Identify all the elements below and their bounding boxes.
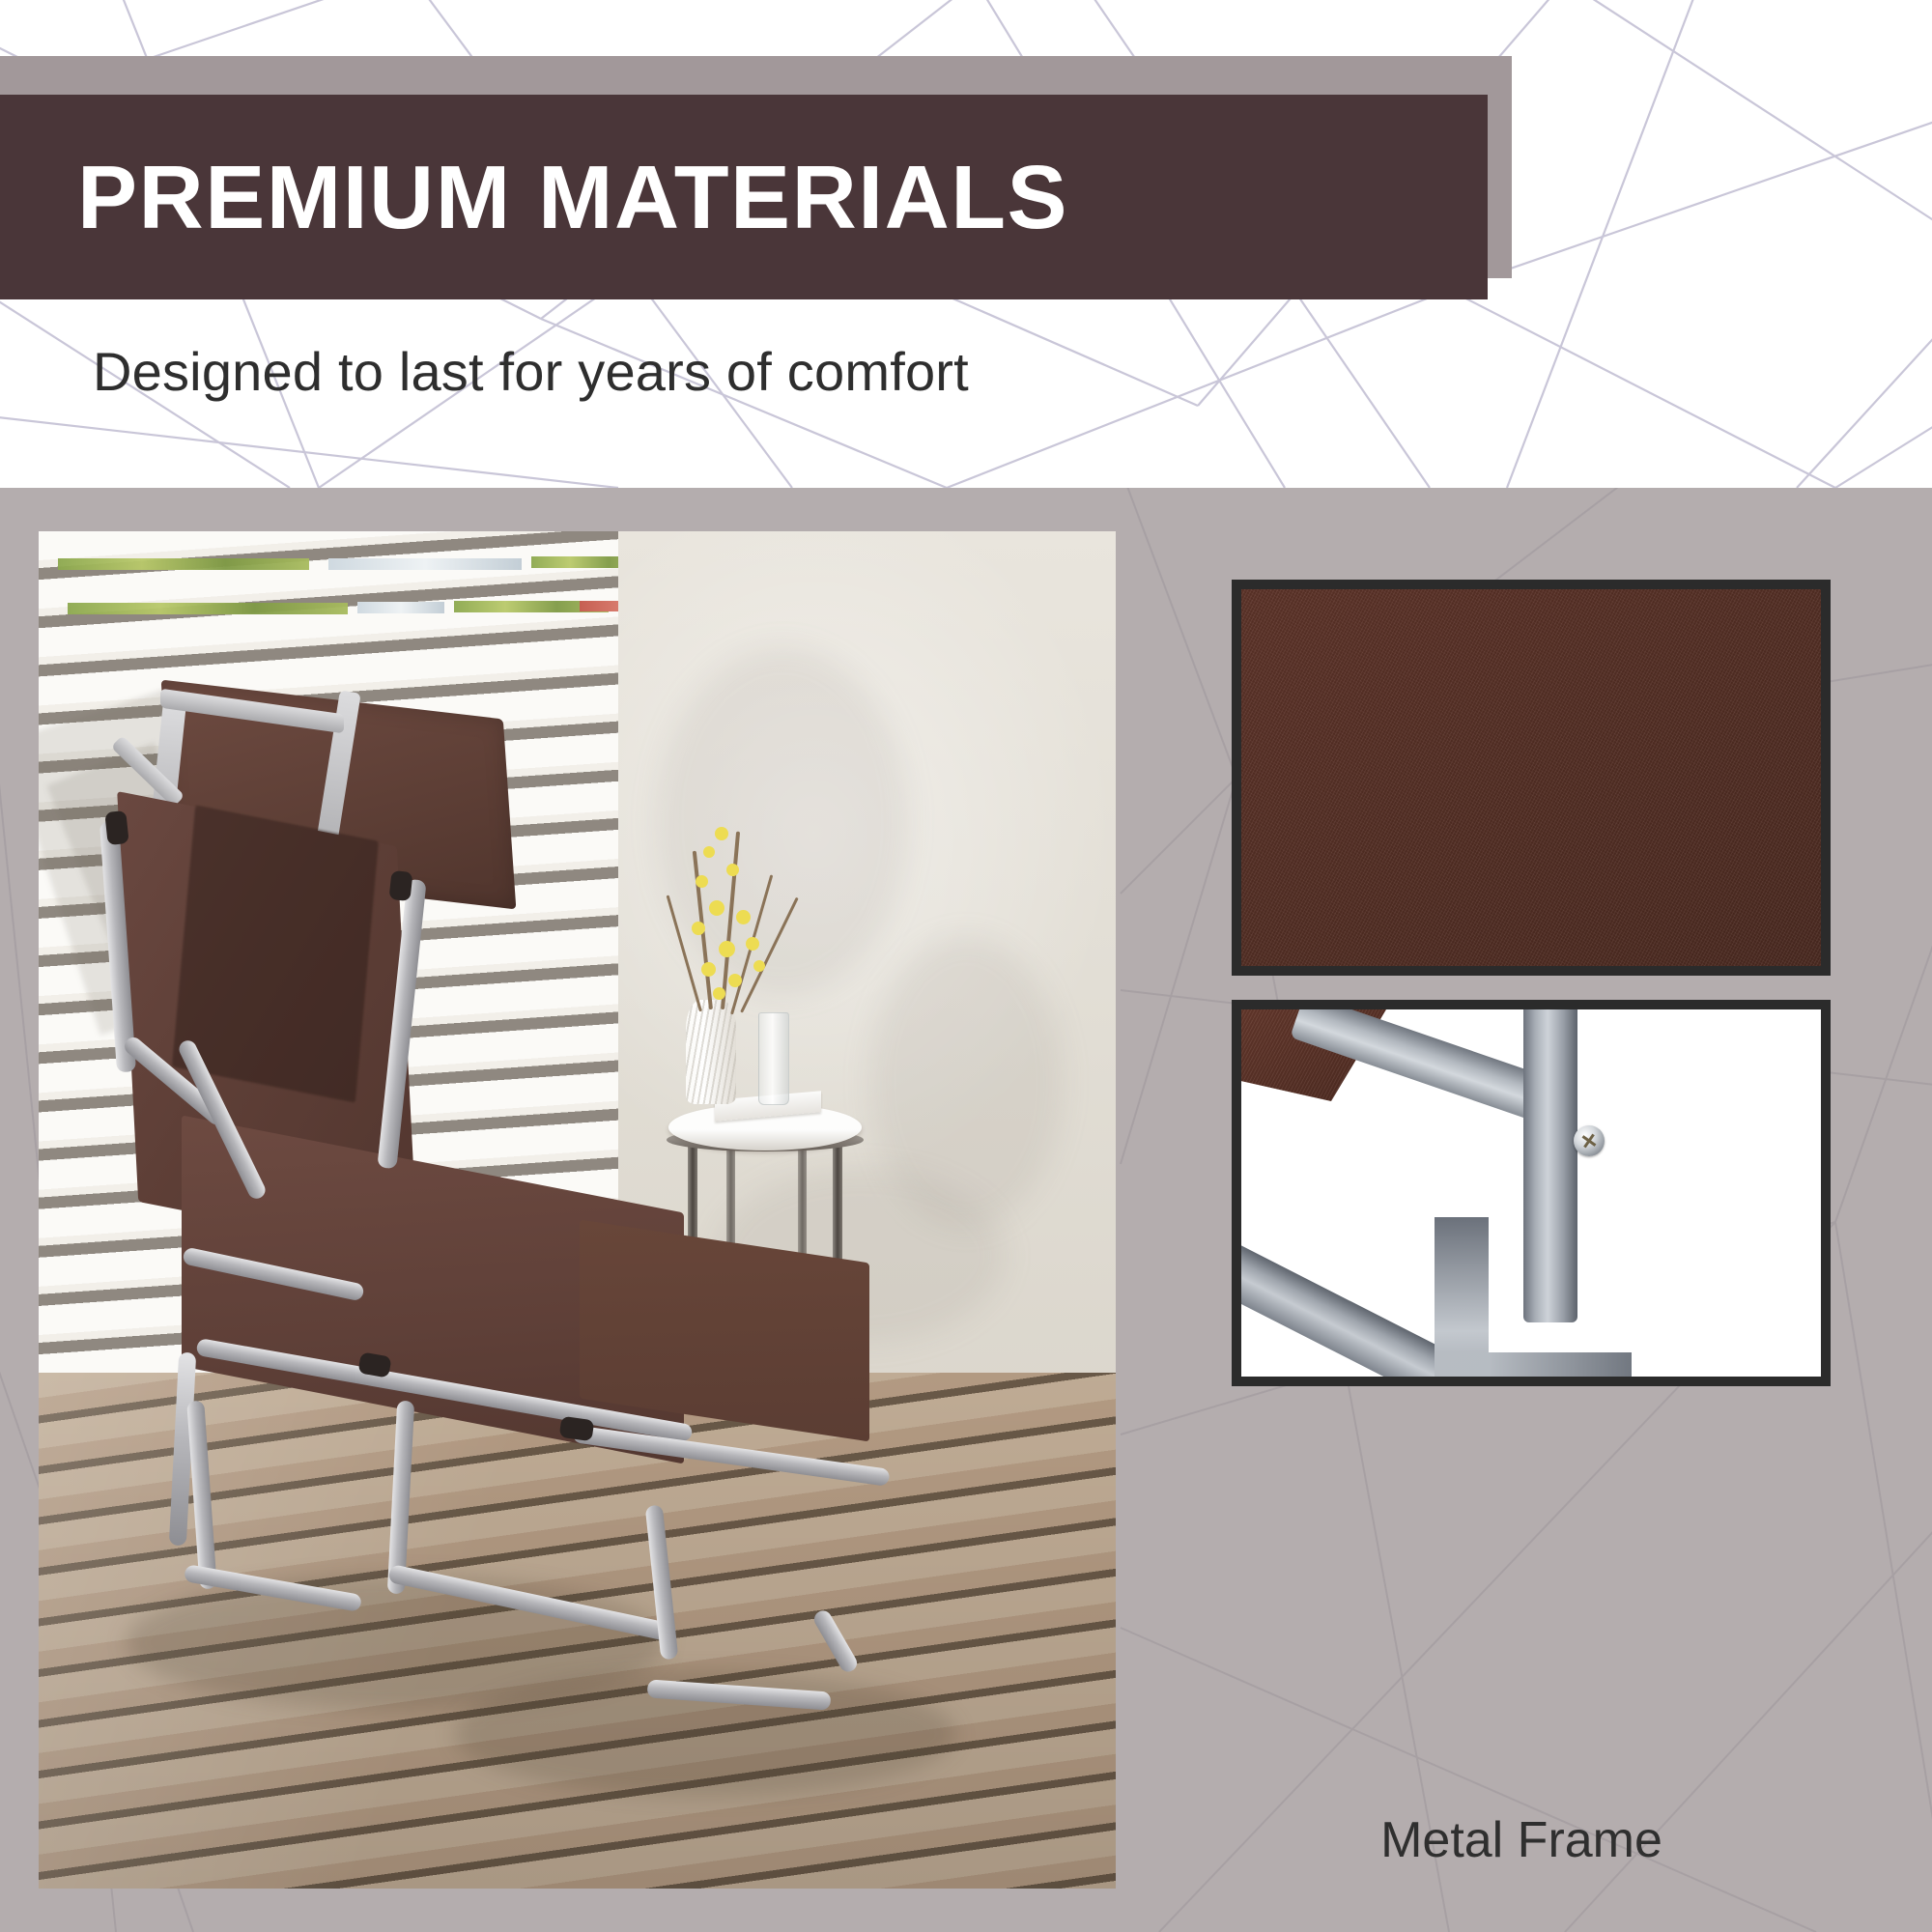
frame-tube-leg-left2 bbox=[186, 1401, 217, 1590]
header-section: PREMIUM MATERIALS Designed to last for y… bbox=[0, 0, 1932, 488]
sun-lounger bbox=[39, 531, 1116, 1889]
frame-tube-cross-bar bbox=[387, 1564, 674, 1642]
feature-inset-fabric bbox=[1232, 580, 1831, 976]
fabric-swatch-icon bbox=[1241, 589, 1821, 966]
headline-banner: PREMIUM MATERIALS bbox=[0, 95, 1488, 299]
product-feature-graphic: PREMIUM MATERIALS Designed to last for y… bbox=[0, 0, 1932, 1932]
content-section: Durable Oxford Cover Metal Frame bbox=[0, 488, 1932, 1932]
frame-tube-foot-right bbox=[811, 1607, 861, 1675]
metal-tube-bend bbox=[1435, 1217, 1632, 1386]
frame-end-cap bbox=[388, 870, 412, 901]
hero-product-photo bbox=[39, 531, 1116, 1889]
screw-icon bbox=[1574, 1125, 1605, 1156]
canopy-shadow-on-backrest bbox=[172, 806, 379, 1103]
frame-tube-bottom-rail bbox=[647, 1679, 832, 1710]
frame-end-cap bbox=[104, 810, 128, 845]
page-subtitle: Designed to last for years of comfort bbox=[93, 340, 969, 403]
page-title: PREMIUM MATERIALS bbox=[77, 153, 1068, 242]
frame-hinge-cap bbox=[559, 1416, 595, 1442]
feature-inset-frame bbox=[1232, 1000, 1831, 1386]
feature-caption-frame: Metal Frame bbox=[1232, 1811, 1811, 1869]
